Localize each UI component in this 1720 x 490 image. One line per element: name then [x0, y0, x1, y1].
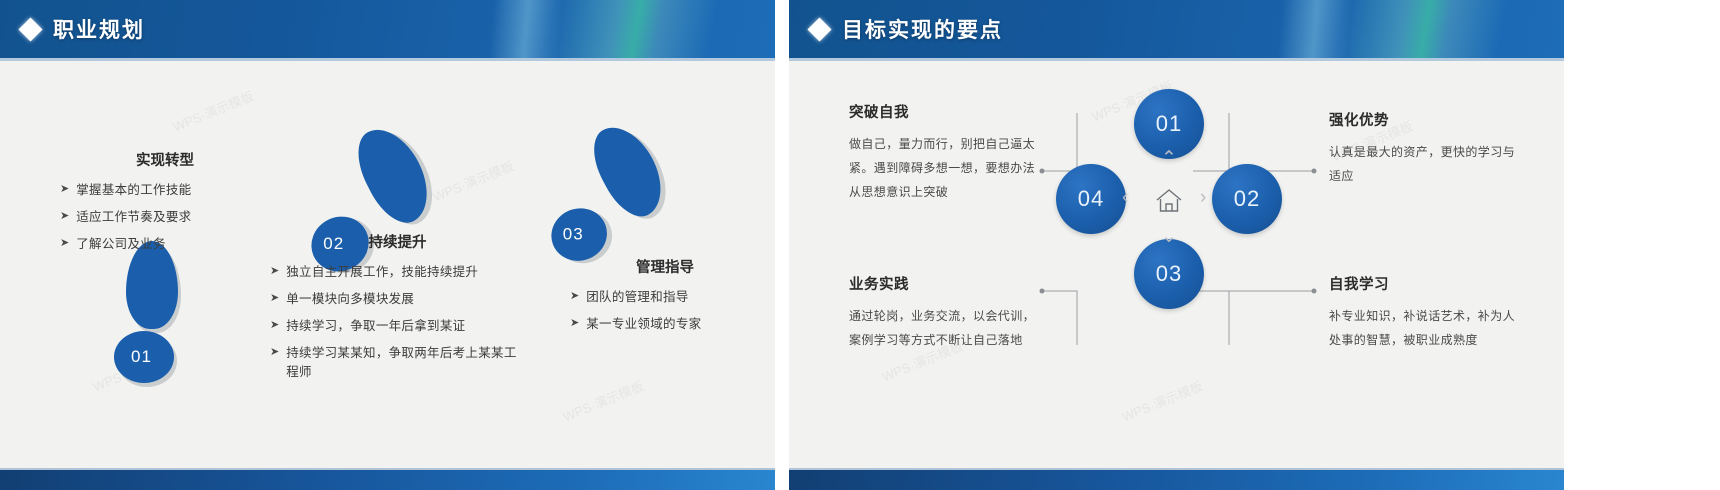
step-circle-02-label: 02: [1234, 186, 1260, 212]
block-01-title: 突破自我: [849, 101, 1039, 122]
block-02-title: 强化优势: [1329, 109, 1519, 130]
column-03-title: 管理指导: [570, 256, 760, 277]
right-footer-bar: [789, 470, 1564, 490]
block-02-text: 认真是最大的资产，更快的学习与适应: [1329, 140, 1519, 188]
block-01-text: 做自己，量力而行，别把自己逼太紧。遇到障碍多想一想，要想办法从思想意识上突破: [849, 132, 1039, 204]
block-03-title: 自我学习: [1329, 273, 1519, 294]
footprint-number-01: 01: [131, 347, 152, 367]
slide-pair: 职业规划 WPS·演示模板 WPS·演示模板 WPS·演示模板 WPS·演示模板…: [0, 0, 1720, 490]
block-03-text: 补专业知识，补说话艺术，补为人处事的智慧，被职业成熟度: [1329, 304, 1519, 352]
arrow-bullet-icon: ➤: [270, 317, 279, 334]
block-04-title: 业务实践: [849, 273, 1039, 294]
column-03: 管理指导 ➤ 团队的管理和指导 ➤ 某一专业领域的专家: [570, 256, 760, 342]
diamond-icon: [807, 17, 831, 41]
home-icon: [1154, 187, 1184, 215]
chevron-left-icon: ‹: [1122, 187, 1128, 209]
block-03-self-learning: 自我学习 补专业知识，补说话艺术，补为人处事的智慧，被职业成熟度: [1329, 273, 1519, 352]
chevron-right-icon: ›: [1200, 187, 1206, 209]
left-slide-body: WPS·演示模板 WPS·演示模板 WPS·演示模板 WPS·演示模板 01: [0, 61, 775, 490]
chevron-down-icon: ⌄: [1161, 225, 1177, 248]
arrow-bullet-icon: ➤: [60, 208, 69, 225]
column-01-title: 实现转型: [60, 149, 270, 170]
block-04-text: 通过轮岗，业务交流，以会代训，案例学习等方式不断让自己落地: [849, 304, 1039, 352]
footprint-01: 01: [104, 239, 200, 404]
column-03-bullet: ➤ 团队的管理和指导: [570, 288, 760, 306]
chevron-up-icon: ⌃: [1161, 147, 1177, 170]
arrow-bullet-icon: ➤: [570, 288, 579, 305]
watermark: WPS·演示模板: [170, 86, 257, 136]
left-page-title: 职业规划: [53, 14, 145, 44]
column-02-bullet: ➤ 持续学习，争取一年后拿到某证: [270, 317, 525, 335]
right-slide-header: 目标实现的要点: [789, 0, 1564, 58]
slide-goal-keypoints: 目标实现的要点 WPS·演示模板 WPS·演示模板 WPS·演示模板 WPS·演…: [789, 0, 1564, 490]
column-02-bullet: ➤ 独立自主开展工作，技能持续提升: [270, 263, 525, 281]
block-02-strengthen-advantage: 强化优势 认真是最大的资产，更快的学习与适应: [1329, 109, 1519, 188]
column-01-bullet: ➤ 适应工作节奏及要求: [60, 208, 270, 226]
block-04-business-practice: 业务实践 通过轮岗，业务交流，以会代训，案例学习等方式不断让自己落地: [849, 273, 1039, 352]
footprint-number-03: 03: [563, 225, 584, 245]
column-02-bullet: ➤ 持续学习某某知，争取两年后考上某某工程师: [270, 344, 525, 380]
right-slide-body: WPS·演示模板 WPS·演示模板 WPS·演示模板 WPS·演示模板: [789, 61, 1564, 490]
left-footer-bar: [0, 470, 775, 490]
column-02: 持续提升 ➤ 独立自主开展工作，技能持续提升 ➤ 单一模块向多模块发展 ➤ 持续…: [270, 231, 525, 390]
arrow-bullet-icon: ➤: [270, 344, 279, 361]
column-02-bullet: ➤ 单一模块向多模块发展: [270, 290, 525, 308]
block-01-break-through-self: 突破自我 做自己，量力而行，别把自己逼太紧。遇到障碍多想一想，要想办法从思想意识…: [849, 101, 1039, 204]
arrow-bullet-icon: ➤: [60, 235, 69, 252]
arrow-bullet-icon: ➤: [270, 290, 279, 307]
arrow-bullet-icon: ➤: [60, 181, 69, 198]
step-circle-04-label: 04: [1078, 186, 1104, 212]
arrow-bullet-icon: ➤: [570, 315, 579, 332]
slide-career-plan: 职业规划 WPS·演示模板 WPS·演示模板 WPS·演示模板 WPS·演示模板…: [0, 0, 775, 490]
step-circle-04[interactable]: 04: [1056, 164, 1126, 234]
slide-gutter: [775, 0, 789, 490]
column-01: 实现转型 ➤ 掌握基本的工作技能 ➤ 适应工作节奏及要求 ➤ 了解公司及业务: [60, 149, 270, 262]
diamond-icon: [18, 17, 42, 41]
step-circle-03-label: 03: [1156, 261, 1182, 287]
left-slide-header: 职业规划: [0, 0, 775, 58]
column-03-bullet: ➤ 某一专业领域的专家: [570, 315, 760, 333]
arrow-bullet-icon: ➤: [270, 263, 279, 280]
hub-home: [1147, 179, 1191, 223]
step-circle-02[interactable]: 02: [1212, 164, 1282, 234]
column-01-bullet: ➤ 了解公司及业务: [60, 235, 270, 253]
watermark: WPS·演示模板: [560, 376, 647, 426]
column-01-bullet: ➤ 掌握基本的工作技能: [60, 181, 270, 199]
column-02-title: 持续提升: [270, 231, 525, 252]
step-circle-03[interactable]: 03: [1134, 239, 1204, 309]
right-page-title: 目标实现的要点: [842, 14, 1003, 44]
step-circle-01-label: 01: [1156, 111, 1182, 137]
